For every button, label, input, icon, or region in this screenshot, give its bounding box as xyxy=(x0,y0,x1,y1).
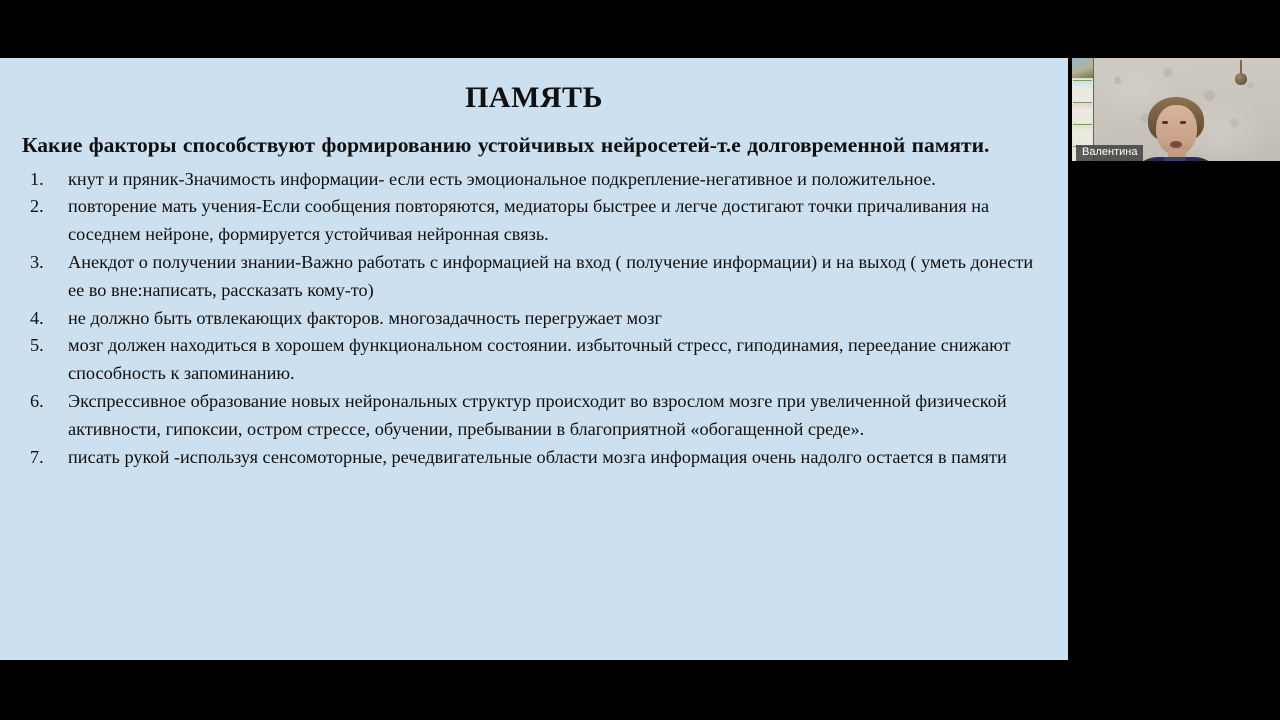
list-item-text: писать рукой -используя сенсомоторные, р… xyxy=(68,447,1007,467)
hanging-pendant-icon xyxy=(1240,60,1242,74)
list-item: 1. кнут и пряник-Значимость информации- … xyxy=(0,166,1042,194)
calendar-photo xyxy=(1072,58,1093,78)
list-item-number: 1. xyxy=(30,166,56,194)
list-item-number: 2. xyxy=(30,193,56,221)
slide-heading: Какие факторы способствуют формированию … xyxy=(22,131,1046,160)
list-item-number: 4. xyxy=(30,305,56,333)
list-item-number: 3. xyxy=(30,249,56,277)
participant-name-badge: Валентина xyxy=(1076,145,1143,161)
slide-numbered-list: 1. кнут и пряник-Значимость информации- … xyxy=(0,166,1068,472)
list-item-text: Экспрессивное образование новых нейронал… xyxy=(68,391,1007,439)
calendar-month xyxy=(1073,80,1092,101)
avatar-eye-left xyxy=(1162,121,1168,124)
avatar-eye-right xyxy=(1180,121,1186,124)
list-item: 3. Анекдот о получении знании-Важно рабо… xyxy=(0,249,1042,305)
list-item: 6. Экспрессивное образование новых нейро… xyxy=(0,388,1042,444)
list-item-text: Анекдот о получении знании-Важно работат… xyxy=(68,252,1033,300)
list-item-text: не должно быть отвлекающих факторов. мно… xyxy=(68,308,662,328)
video-tile-bottom-strip xyxy=(1072,161,1280,183)
shared-slide: ПАМЯТЬ Какие факторы способствуют формир… xyxy=(0,58,1068,660)
list-item: 7. писать рукой -используя сенсомоторные… xyxy=(0,444,1042,472)
list-item: 5. мозг должен находиться в хорошем функ… xyxy=(0,332,1042,388)
list-item-number: 7. xyxy=(30,444,56,472)
slide-title: ПАМЯТЬ xyxy=(0,83,1068,113)
letterbox-top xyxy=(0,0,1280,58)
list-item: 4. не должно быть отвлекающих факторов. … xyxy=(0,305,1042,333)
list-item-text: кнут и пряник-Значимость информации- есл… xyxy=(68,169,936,189)
avatar-mouth xyxy=(1170,141,1182,148)
participant-video-tile[interactable]: Валентина xyxy=(1072,58,1280,183)
calendar-month xyxy=(1073,102,1092,123)
calendar-month xyxy=(1073,124,1092,145)
list-item-text: мозг должен находиться в хорошем функцио… xyxy=(68,335,1011,383)
video-call-screen: ПАМЯТЬ Какие факторы способствуют формир… xyxy=(0,0,1280,720)
list-item-text: повторение мать учения-Если сообщения по… xyxy=(68,196,989,244)
list-item: 2. повторение мать учения-Если сообщения… xyxy=(0,193,1042,249)
list-item-number: 5. xyxy=(30,332,56,360)
letterbox-bottom xyxy=(0,660,1280,720)
list-item-number: 6. xyxy=(30,388,56,416)
